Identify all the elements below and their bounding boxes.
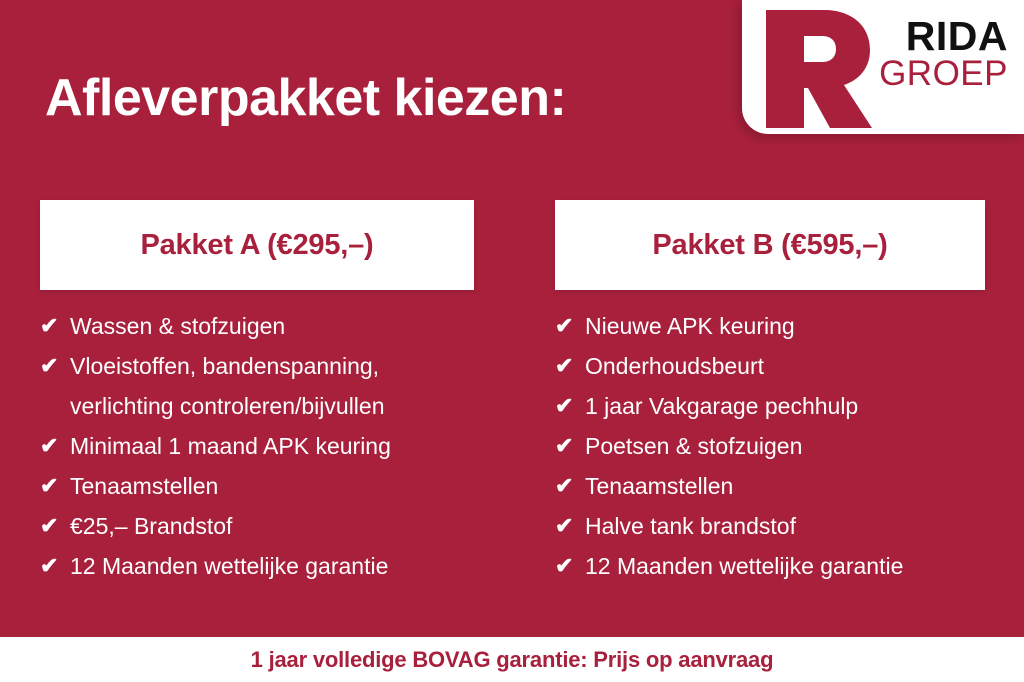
feature-label: 12 Maanden wettelijke garantie	[585, 546, 985, 586]
feature-label: €25,– Brandstof	[70, 506, 474, 546]
list-item: ✔ Tenaamstellen	[40, 466, 474, 506]
check-icon: ✔	[555, 506, 585, 546]
list-item: ✔ Wassen & stofzuigen	[40, 306, 474, 346]
list-item: ✔ Vloeistoffen, bandenspanning, verlicht…	[40, 346, 474, 426]
package-a-header: Pakket A (€295,–)	[40, 200, 474, 290]
check-icon: ✔	[40, 346, 70, 386]
check-icon: ✔	[555, 426, 585, 466]
feature-label: 12 Maanden wettelijke garantie	[70, 546, 474, 586]
check-icon: ✔	[40, 466, 70, 506]
footer-banner: 1 jaar volledige BOVAG garantie: Prijs o…	[0, 637, 1024, 682]
feature-label: Nieuwe APK keuring	[585, 306, 985, 346]
list-item: ✔ €25,– Brandstof	[40, 506, 474, 546]
list-item: ✔ 12 Maanden wettelijke garantie	[40, 546, 474, 586]
feature-label: 1 jaar Vakgarage pechhulp	[585, 386, 985, 426]
package-b-feature-list: ✔ Nieuwe APK keuring ✔ Onderhoudsbeurt ✔…	[555, 290, 985, 586]
feature-label: Tenaamstellen	[70, 466, 474, 506]
feature-label: Halve tank brandstof	[585, 506, 985, 546]
package-a-feature-list: ✔ Wassen & stofzuigen ✔ Vloeistoffen, ba…	[40, 290, 474, 586]
package-card-b[interactable]: Pakket B (€595,–) ✔ Nieuwe APK keuring ✔…	[512, 200, 1024, 586]
list-item: ✔ Minimaal 1 maand APK keuring	[40, 426, 474, 466]
feature-label: Minimaal 1 maand APK keuring	[70, 426, 474, 466]
check-icon: ✔	[555, 306, 585, 346]
afleverpakket-poster: Afleverpakket kiezen: RIDA GROEP Pakket …	[0, 0, 1024, 682]
check-icon: ✔	[40, 546, 70, 586]
feature-label: Tenaamstellen	[585, 466, 985, 506]
feature-label: Poetsen & stofzuigen	[585, 426, 985, 466]
brand-wordmark: RIDA GROEP	[879, 16, 1008, 93]
check-icon: ✔	[40, 426, 70, 466]
package-list: Pakket A (€295,–) ✔ Wassen & stofzuigen …	[0, 200, 1024, 586]
list-item: ✔ 12 Maanden wettelijke garantie	[555, 546, 985, 586]
list-item: ✔ Nieuwe APK keuring	[555, 306, 985, 346]
brand-logo-panel: RIDA GROEP	[742, 0, 1024, 134]
feature-label: Vloeistoffen, bandenspanning, verlichtin…	[70, 346, 474, 426]
check-icon: ✔	[555, 346, 585, 386]
package-b-title: Pakket B (€595,–)	[652, 229, 887, 262]
check-icon: ✔	[555, 546, 585, 586]
check-icon: ✔	[40, 506, 70, 546]
rida-r-mark-icon	[760, 6, 872, 128]
package-b-header: Pakket B (€595,–)	[555, 200, 985, 290]
package-card-a[interactable]: Pakket A (€295,–) ✔ Wassen & stofzuigen …	[0, 200, 512, 586]
list-item: ✔ Poetsen & stofzuigen	[555, 426, 985, 466]
list-item: ✔ 1 jaar Vakgarage pechhulp	[555, 386, 985, 426]
brand-name: RIDA	[879, 16, 1008, 58]
list-item: ✔ Tenaamstellen	[555, 466, 985, 506]
list-item: ✔ Halve tank brandstof	[555, 506, 985, 546]
check-icon: ✔	[555, 386, 585, 426]
footer-note: 1 jaar volledige BOVAG garantie: Prijs o…	[251, 647, 774, 673]
feature-label: Onderhoudsbeurt	[585, 346, 985, 386]
page-title: Afleverpakket kiezen:	[45, 69, 566, 129]
list-item: ✔ Onderhoudsbeurt	[555, 346, 985, 386]
check-icon: ✔	[40, 306, 70, 346]
brand-sub-name: GROEP	[879, 56, 1008, 93]
check-icon: ✔	[555, 466, 585, 506]
feature-label: Wassen & stofzuigen	[70, 306, 474, 346]
package-a-title: Pakket A (€295,–)	[140, 229, 373, 262]
